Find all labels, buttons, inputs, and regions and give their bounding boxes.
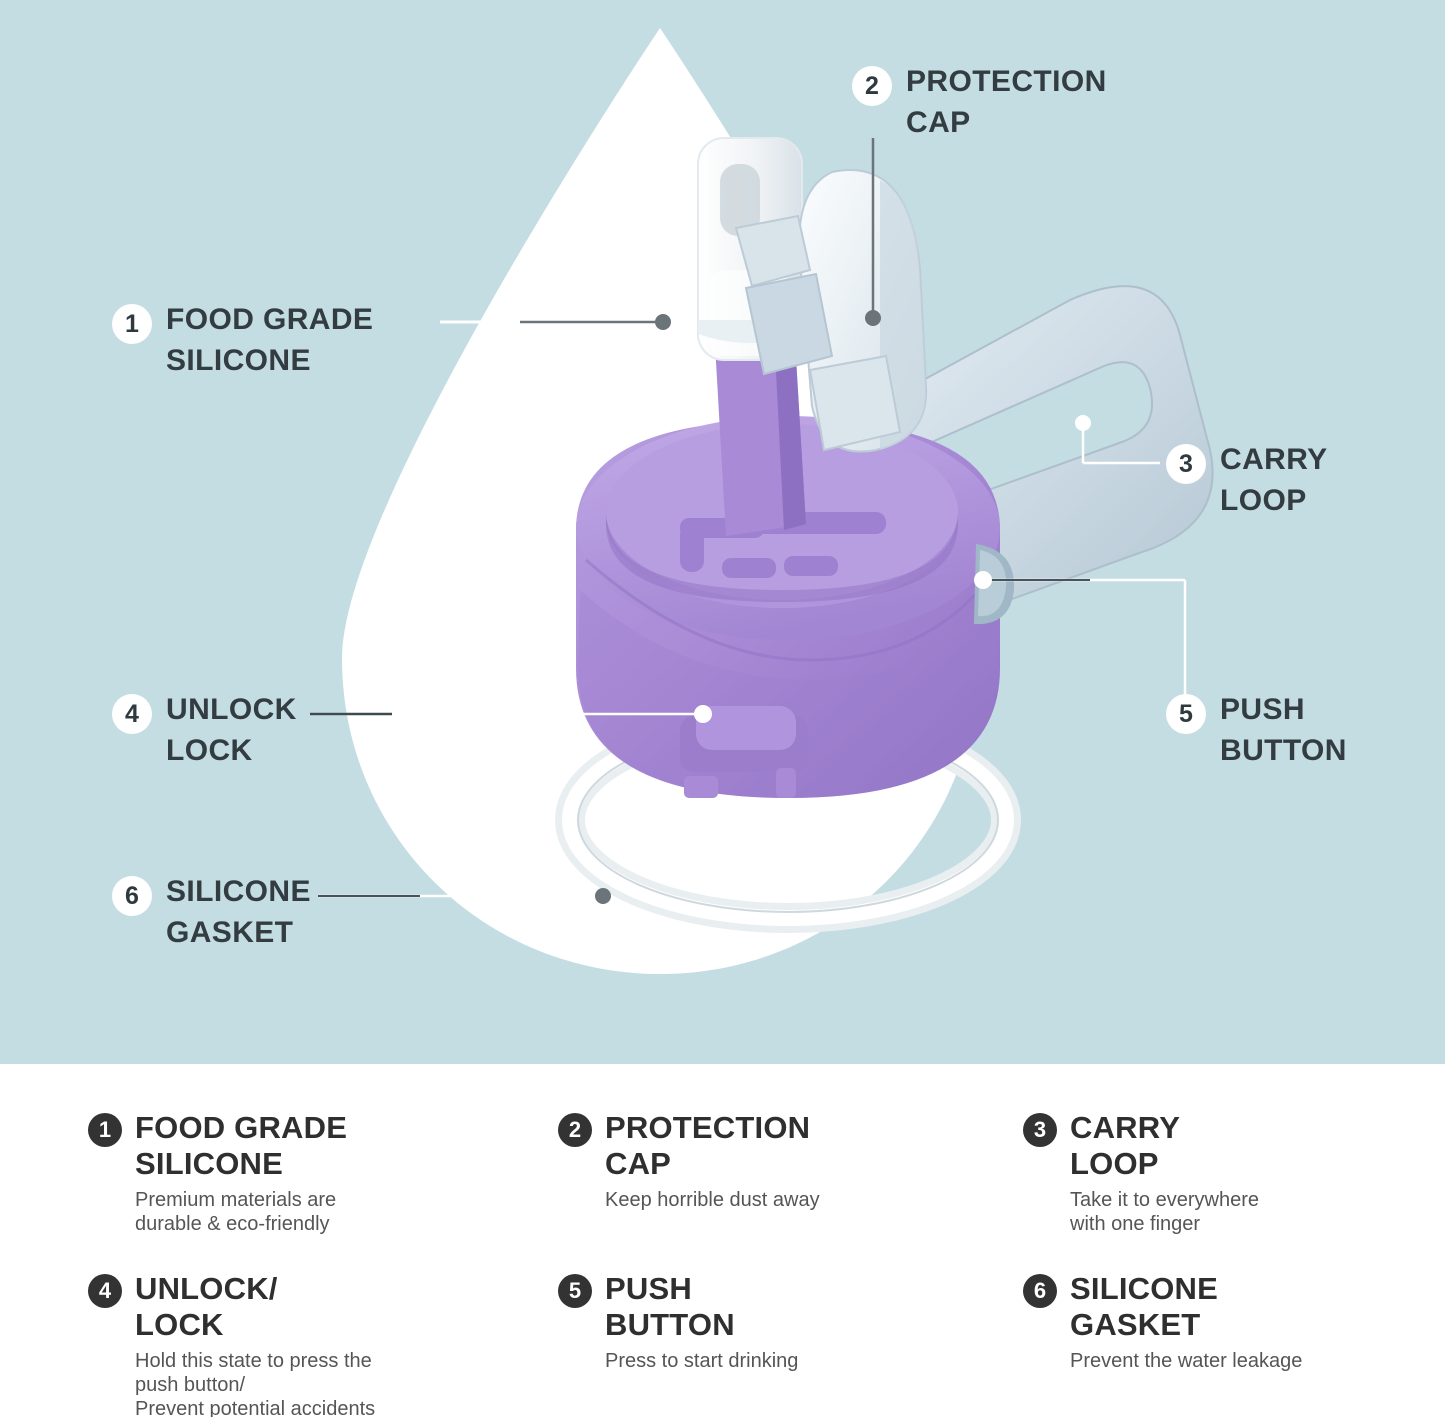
- callout-label-2: PROTECTION CAP: [906, 62, 1107, 143]
- legend-badge-2: 2: [558, 1113, 592, 1147]
- leader-line-2: [865, 138, 881, 326]
- leader-line-4: [310, 705, 712, 723]
- legend-title-6: SILICONE GASKET: [1070, 1271, 1302, 1343]
- legend-item-2: 2 PROTECTION CAP Keep horrible dust away: [558, 1110, 1023, 1237]
- callout-label-5: PUSH BUTTON: [1220, 690, 1347, 771]
- legend-title-2: PROTECTION CAP: [605, 1110, 820, 1182]
- legend-badge-3: 3: [1023, 1113, 1057, 1147]
- legend-badge-5: 5: [558, 1274, 592, 1308]
- legend-desc-2: Keep horrible dust away: [605, 1188, 820, 1212]
- callout-carry-loop: 3 CARRY LOOP: [1166, 440, 1328, 521]
- legend-desc-5: Press to start drinking: [605, 1349, 798, 1373]
- callout-badge-1: 1: [112, 304, 152, 344]
- leader-line-3: [1075, 415, 1160, 463]
- callout-protection-cap: 2 PROTECTION CAP: [852, 62, 1107, 143]
- legend-item-5: 5 PUSH BUTTON Press to start drinking: [558, 1271, 1023, 1417]
- callout-unlock-lock: 4 UNLOCK LOCK: [112, 690, 297, 771]
- leader-line-1: [440, 314, 671, 330]
- callout-push-button: 5 PUSH BUTTON: [1166, 690, 1347, 771]
- legend-item-3: 3 CARRY LOOP Take it to everywhere with …: [1023, 1110, 1388, 1237]
- callout-badge-3: 3: [1166, 444, 1206, 484]
- legend-title-3: CARRY LOOP: [1070, 1110, 1259, 1182]
- callout-badge-2: 2: [852, 66, 892, 106]
- legend-badge-1: 1: [88, 1113, 122, 1147]
- legend-title-1: FOOD GRADE SILICONE: [135, 1110, 347, 1182]
- legend-title-4: UNLOCK/ LOCK: [135, 1271, 375, 1343]
- legend-desc-3: Take it to everywhere with one finger: [1070, 1188, 1259, 1237]
- legend-item-4: 4 UNLOCK/ LOCK Hold this state to press …: [88, 1271, 558, 1417]
- legend-badge-4: 4: [88, 1274, 122, 1308]
- callout-label-4: UNLOCK LOCK: [166, 690, 297, 771]
- legend-panel: 1 FOOD GRADE SILICONE Premium materials …: [0, 1064, 1445, 1417]
- infographic-page: 1 FOOD GRADE SILICONE 2 PROTECTION CAP 3…: [0, 0, 1445, 1417]
- callout-food-grade-silicone: 1 FOOD GRADE SILICONE: [112, 300, 373, 381]
- legend-item-6: 6 SILICONE GASKET Prevent the water leak…: [1023, 1271, 1388, 1417]
- legend-title-5: PUSH BUTTON: [605, 1271, 798, 1343]
- callout-label-3: CARRY LOOP: [1220, 440, 1328, 521]
- hero-panel: 1 FOOD GRADE SILICONE 2 PROTECTION CAP 3…: [0, 0, 1445, 1064]
- leader-line-6: [318, 888, 611, 904]
- legend-grid: 1 FOOD GRADE SILICONE Premium materials …: [88, 1110, 1388, 1417]
- legend-item-1: 1 FOOD GRADE SILICONE Premium materials …: [88, 1110, 558, 1237]
- legend-desc-4: Hold this state to press the push button…: [135, 1349, 375, 1417]
- callout-silicone-gasket: 6 SILICONE GASKET: [112, 872, 311, 953]
- callout-badge-5: 5: [1166, 694, 1206, 734]
- callout-label-6: SILICONE GASKET: [166, 872, 311, 953]
- leader-line-5: [974, 571, 1185, 695]
- callout-badge-6: 6: [112, 876, 152, 916]
- legend-desc-1: Premium materials are durable & eco-frie…: [135, 1188, 347, 1237]
- callout-label-1: FOOD GRADE SILICONE: [166, 300, 373, 381]
- legend-desc-6: Prevent the water leakage: [1070, 1349, 1302, 1373]
- legend-badge-6: 6: [1023, 1274, 1057, 1308]
- callout-badge-4: 4: [112, 694, 152, 734]
